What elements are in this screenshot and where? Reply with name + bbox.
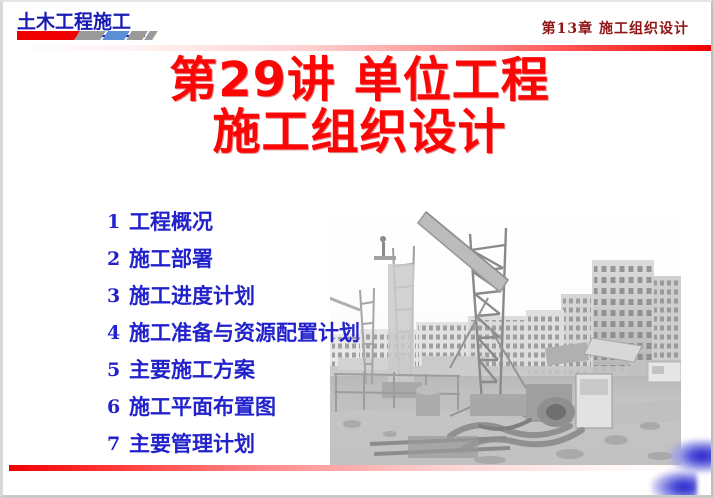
list-item-label: 主要施工方案: [129, 358, 255, 382]
list-item[interactable]: 6 施工平面布置图: [107, 395, 437, 432]
chapter-label: 第13章 施工组织设计: [542, 18, 689, 38]
list-item-number: 2: [107, 247, 129, 271]
slide-title-line1: 第29讲 单位工程: [169, 52, 550, 108]
slide-title-line2: 施工组织设计: [3, 108, 713, 157]
list-item-number: 3: [107, 284, 129, 308]
course-logo-label: 土木工程施工: [17, 11, 187, 33]
list-item[interactable]: 3 施工进度计划: [107, 284, 437, 321]
list-item-label: 施工准备与资源配置计划: [129, 321, 360, 345]
list-item-label: 施工平面布置图: [129, 395, 276, 419]
slide-canvas: 土木工程施工 第13章 施工组织设计: [3, 2, 711, 495]
list-item-number: 4: [107, 321, 129, 345]
list-item[interactable]: 2 施工部署: [107, 247, 437, 284]
list-item[interactable]: 7 主要管理计划: [107, 432, 437, 469]
footer-divider: [9, 465, 711, 471]
list-item-label: 工程概况: [129, 210, 213, 234]
list-item-number: 6: [107, 395, 129, 419]
list-item[interactable]: 1 工程概况: [107, 210, 437, 247]
presentation-slide: 土木工程施工 第13章 施工组织设计: [0, 0, 713, 498]
next-slide-indicator-icon[interactable]: [669, 439, 713, 473]
list-item-number: 5: [107, 358, 129, 382]
navigation-glow-icon[interactable]: [651, 470, 697, 498]
list-item-label: 施工部署: [129, 247, 213, 271]
list-item-number: 7: [107, 432, 129, 456]
header-divider: [9, 45, 711, 51]
slide-title: 第29讲 单位工程 施工组织设计: [3, 56, 713, 157]
list-item-label: 主要管理计划: [129, 432, 255, 456]
list-item-number: 1: [107, 210, 129, 234]
list-item-label: 施工进度计划: [129, 284, 255, 308]
logo-arrow-icon: [17, 31, 142, 40]
agenda-list: 1 工程概况 2 施工部署 3 施工进度计划 4 施工准备与资源配置计划 5 主…: [107, 210, 437, 469]
list-item[interactable]: 5 主要施工方案: [107, 358, 437, 395]
list-item[interactable]: 4 施工准备与资源配置计划: [107, 321, 437, 358]
